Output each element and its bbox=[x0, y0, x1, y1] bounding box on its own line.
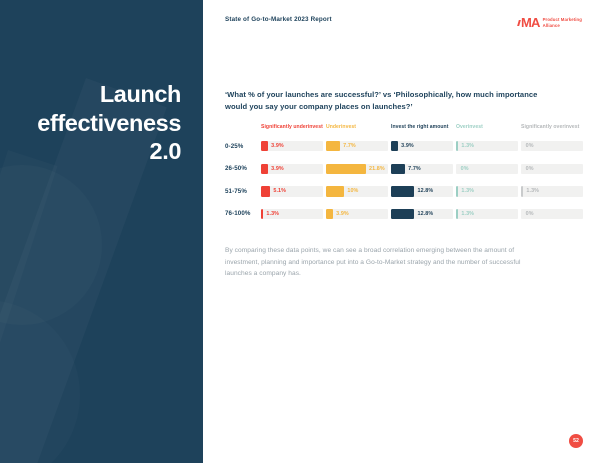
chart-rows: 0-25%3.9%7.7%3.9%1.3%0%26-50%3.9%21.8%7.… bbox=[225, 135, 565, 225]
chart-bar bbox=[261, 141, 268, 152]
chart-bar-cell: 3.9% bbox=[261, 164, 323, 175]
chart-bar bbox=[261, 164, 268, 175]
chart-bar bbox=[521, 164, 523, 175]
report-title: State of Go-to-Market 2023 Report bbox=[225, 16, 332, 23]
pma-logo-wordmark: Product Marketing Alliance bbox=[543, 17, 582, 28]
chart-bar-cell: 7.7% bbox=[391, 164, 453, 175]
chart-bar-value: 1.3% bbox=[461, 143, 474, 149]
pma-logo-mark: MA bbox=[518, 16, 539, 29]
chart-row-label: 51-75% bbox=[225, 188, 261, 195]
chart-bar-value: 0% bbox=[526, 166, 534, 172]
legend-item-underinvest: Underinvest bbox=[326, 124, 388, 131]
chart-container: Significantly underinvest Underinvest In… bbox=[225, 124, 565, 225]
chart-legend: Significantly underinvest Underinvest In… bbox=[225, 124, 565, 131]
chart-bar-value: 0% bbox=[461, 166, 469, 172]
pma-logo: MA Product Marketing Alliance bbox=[518, 16, 582, 29]
chart-bar-cell: 1.3% bbox=[521, 186, 583, 197]
chart-bar bbox=[456, 186, 458, 197]
decorative-diagonal-bar-secondary-icon bbox=[0, 150, 57, 463]
chart-bar-value: 1.3% bbox=[526, 188, 539, 194]
chart-bar bbox=[456, 209, 458, 220]
chart-bar-value: 1.3% bbox=[461, 188, 474, 194]
chart-bar-value: 12.8% bbox=[417, 188, 433, 194]
legend-item-invest-the-right-amount: Invest the right amount bbox=[391, 124, 453, 131]
chart-bar-cell: 12.8% bbox=[391, 186, 453, 197]
chart-bar-value: 0% bbox=[526, 211, 534, 217]
pma-logo-letters: MA bbox=[521, 15, 540, 30]
chart-bar-value: 3.9% bbox=[401, 143, 414, 149]
chart-bar-cell: 3.9% bbox=[391, 141, 453, 152]
page-title: Launch effectiveness 2.0 bbox=[0, 80, 181, 166]
chart-row: 26-50%3.9%21.8%7.7%0%0% bbox=[225, 157, 565, 180]
chart-bar-value: 7.7% bbox=[408, 166, 421, 172]
chart-row: 76-100%1.3%3.9%12.8%1.3%0% bbox=[225, 203, 565, 226]
chart-bar-cell: 7.7% bbox=[326, 141, 388, 152]
chart-row-label: 0-25% bbox=[225, 143, 261, 150]
chart-bar bbox=[391, 186, 414, 197]
decorative-circle-icon bbox=[0, 165, 102, 325]
chart-bar-value: 10% bbox=[347, 188, 358, 194]
chart-bar-cell: 0% bbox=[521, 164, 583, 175]
chart-bar bbox=[521, 209, 523, 220]
page-number-badge: 52 bbox=[569, 434, 583, 448]
content-panel: State of Go-to-Market 2023 Report MA Pro… bbox=[203, 0, 600, 463]
legend-item-significantly-overinvest: Significantly overinvest bbox=[521, 124, 583, 131]
chart-bar-value: 3.9% bbox=[271, 166, 284, 172]
chart-bar-cell: 1.3% bbox=[456, 141, 518, 152]
chart-bar-value: 3.9% bbox=[271, 143, 284, 149]
legend-item-significantly-underinvest: Significantly underinvest bbox=[261, 124, 323, 131]
chart-bar bbox=[391, 141, 398, 152]
chart-row: 0-25%3.9%7.7%3.9%1.3%0% bbox=[225, 135, 565, 158]
chart-bar-value: 7.7% bbox=[343, 143, 356, 149]
chart-bar bbox=[521, 186, 523, 197]
chart-bar-value: 12.8% bbox=[417, 211, 433, 217]
chart-bar-value: 21.8% bbox=[369, 166, 385, 172]
chart-bar bbox=[261, 209, 263, 220]
chart-bar bbox=[521, 141, 523, 152]
chart-question: ‘What % of your launches are successful?… bbox=[225, 89, 555, 113]
chart-bar-cell: 12.8% bbox=[391, 209, 453, 220]
chart-bar bbox=[456, 164, 458, 175]
chart-bar-cell: 3.9% bbox=[326, 209, 388, 220]
left-title-panel: Launch effectiveness 2.0 bbox=[0, 0, 203, 463]
chart-bar bbox=[326, 186, 344, 197]
chart-bar-cell: 5.1% bbox=[261, 186, 323, 197]
chart-bar-cell: 0% bbox=[521, 141, 583, 152]
chart-bar-cell: 1.3% bbox=[261, 209, 323, 220]
chart-bar-cell: 10% bbox=[326, 186, 388, 197]
chart-row-label: 76-100% bbox=[225, 210, 261, 217]
chart-bar bbox=[326, 209, 333, 220]
chart-bar-cell: 1.3% bbox=[456, 186, 518, 197]
decorative-circle-secondary-icon bbox=[0, 300, 80, 463]
chart-bar bbox=[391, 209, 414, 220]
chart-bar-cell: 3.9% bbox=[261, 141, 323, 152]
chart-bar-value: 0% bbox=[526, 143, 534, 149]
chart-bar bbox=[456, 141, 458, 152]
chart-bar-cell: 0% bbox=[456, 164, 518, 175]
chart-row-label: 26-50% bbox=[225, 165, 261, 172]
chart-bar-cell: 1.3% bbox=[456, 209, 518, 220]
chart-bar bbox=[326, 164, 366, 175]
chart-bar bbox=[391, 164, 405, 175]
chart-bar-value: 3.9% bbox=[336, 211, 349, 217]
chart-summary-text: By comparing these data points, we can s… bbox=[225, 245, 535, 280]
header-bar: State of Go-to-Market 2023 Report MA Pro… bbox=[225, 16, 582, 36]
slide: Launch effectiveness 2.0 State of Go-to-… bbox=[0, 0, 600, 463]
chart-bar-value: 1.3% bbox=[461, 211, 474, 217]
chart-bar bbox=[326, 141, 340, 152]
chart-bar-cell: 0% bbox=[521, 209, 583, 220]
chart-bar-value: 5.1% bbox=[273, 188, 286, 194]
chart-row: 51-75%5.1%10%12.8%1.3%1.3% bbox=[225, 180, 565, 203]
legend-item-overinvest: Overinvest bbox=[456, 124, 518, 131]
chart-bar bbox=[261, 186, 270, 197]
chart-bar-cell: 21.8% bbox=[326, 164, 388, 175]
chart-bar-value: 1.3% bbox=[266, 211, 279, 217]
